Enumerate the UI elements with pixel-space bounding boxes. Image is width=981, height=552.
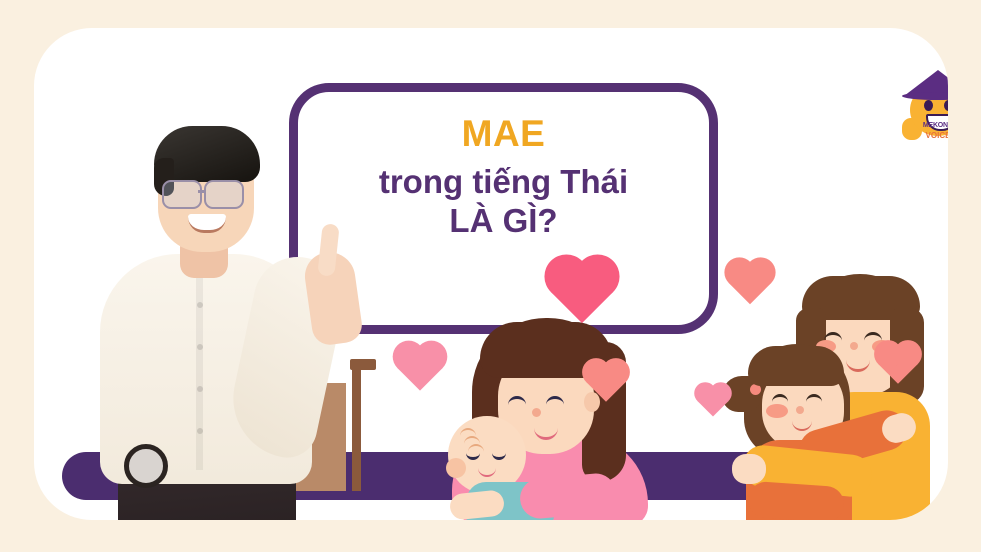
wooden-post-left xyxy=(352,359,361,491)
mother-eye-right xyxy=(546,396,564,408)
teacher-glasses-lens-left xyxy=(162,180,202,209)
daughter-hair-fringe xyxy=(748,346,844,386)
logo-hat-brim xyxy=(902,92,948,100)
baby-cheek xyxy=(446,458,466,478)
teacher-shirt-button-1 xyxy=(197,302,203,308)
daughter-eye-left xyxy=(772,394,788,405)
mother2-nose xyxy=(850,342,858,350)
speech-bubble-text: MAE trong tiếng Thái LÀ GÌ? xyxy=(289,83,718,240)
mother-and-baby-illustration xyxy=(434,316,664,516)
daughter-eye-right xyxy=(806,394,822,405)
mother-ear xyxy=(584,392,600,412)
bubble-title-mae: MAE xyxy=(289,113,718,154)
teacher-shirt-button-3 xyxy=(197,386,203,392)
logo-text-line2: VOICE xyxy=(906,131,948,140)
daughter-nose xyxy=(796,406,804,414)
mother2-hand xyxy=(732,454,766,484)
logo-eye-left xyxy=(924,100,933,111)
teacher-glasses-lens-right xyxy=(204,180,244,209)
logo-eye-right xyxy=(944,100,948,111)
daughter-arm-lower xyxy=(747,481,845,520)
teacher-shirt-placket xyxy=(196,256,203,470)
teacher-glasses-bridge xyxy=(198,190,206,193)
bubble-line-2: trong tiếng Thái xyxy=(289,164,718,201)
brand-logo[interactable]: MEKONG VOICE xyxy=(900,66,948,142)
daughter-cheek xyxy=(766,404,788,418)
white-card: MAE trong tiếng Thái LÀ GÌ? xyxy=(34,28,948,520)
teacher-figure xyxy=(92,106,322,520)
teacher-shirt-button-4 xyxy=(197,428,203,434)
teacher-wristwatch xyxy=(124,444,168,488)
mother2-eye-left xyxy=(824,332,842,344)
mother-eye-left xyxy=(508,396,526,408)
wooden-post-cap xyxy=(350,359,376,370)
logo-text-line1: MEKONG xyxy=(906,122,948,129)
mother-and-daughter-illustration xyxy=(724,268,948,520)
bubble-line-3: LÀ GÌ? xyxy=(289,203,718,240)
poster-canvas: MAE trong tiếng Thái LÀ GÌ? xyxy=(0,0,981,552)
teacher-shirt-button-2 xyxy=(197,344,203,350)
mother-nose xyxy=(532,408,541,417)
